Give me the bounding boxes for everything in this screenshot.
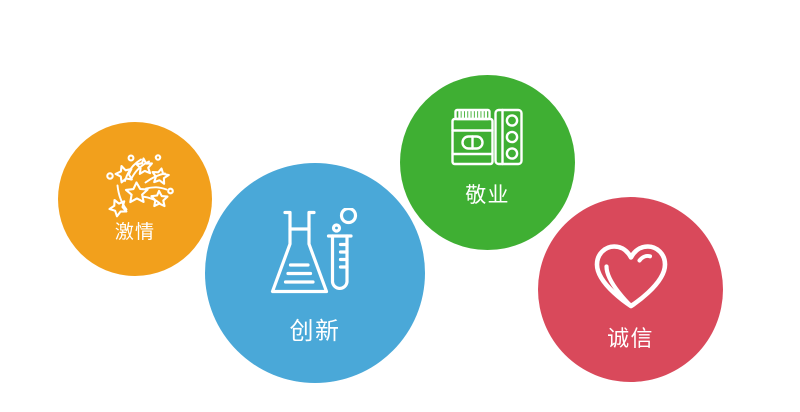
- medicine-bottle-pill-blister-icon: [450, 106, 526, 168]
- value-label-passion: 激情: [58, 217, 212, 244]
- value-label-dedication: 敬业: [400, 179, 575, 209]
- value-circle-passion[interactable]: 激情: [58, 122, 212, 276]
- value-label-innovation: 创新: [205, 311, 425, 346]
- value-label-integrity: 诚信: [538, 321, 723, 353]
- value-circle-dedication[interactable]: 敬业: [400, 75, 575, 250]
- value-circle-integrity[interactable]: 诚信: [538, 197, 723, 382]
- fireworks-stars-icon: [96, 149, 174, 221]
- flask-test-tube-icon: [268, 208, 362, 300]
- heart-outline-icon: [592, 243, 670, 311]
- values-graphic-canvas: 激情: [0, 0, 800, 412]
- value-circle-innovation[interactable]: 创新: [205, 163, 425, 383]
